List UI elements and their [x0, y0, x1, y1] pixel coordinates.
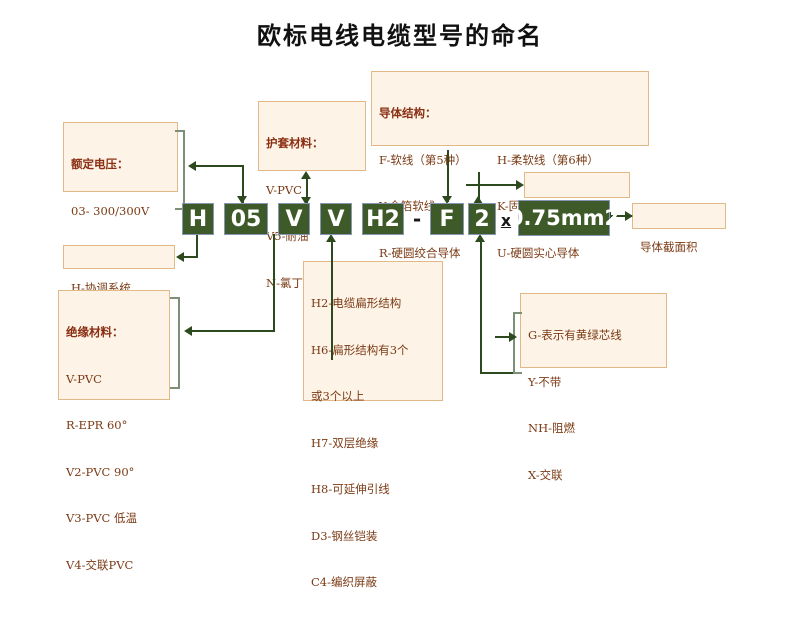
cross-section-connector-arrowhead-right: [625, 211, 633, 221]
special-codes-line-4: X-交联: [528, 468, 660, 484]
chip-insulation[interactable]: V: [278, 203, 310, 235]
construction-codes-line-6: D3-钢丝铠装: [311, 529, 436, 545]
voltage-connector-horizontal: [196, 165, 244, 167]
rated-voltage-box: 额定电压： 03- 300/300V 05- 300/500V 07- 450/…: [63, 122, 178, 192]
harmonisation-box: H-协调系统: [63, 245, 175, 269]
special-codes-connector-horizontal: [480, 372, 515, 374]
insulation-bracket-spine: [178, 297, 180, 389]
construction-connector-vertical: [331, 240, 333, 360]
core-count-connector-horizontal: [466, 184, 518, 186]
chip-conductor-label: F: [439, 207, 454, 232]
conductor-connector-vertical: [447, 150, 449, 202]
chip-sheath[interactable]: V: [320, 203, 352, 235]
chip-harmonisation-label: H: [189, 207, 207, 232]
conductor-structure-heading: 导体结构：: [379, 106, 642, 122]
special-codes-connector-arrowhead-up: [475, 234, 485, 242]
chip-voltage[interactable]: 05: [224, 203, 268, 235]
insulation-material-line-3: V2-PVC 90°: [66, 465, 163, 481]
special-codes-box: G-表示有黄绿芯线 Y-不带 NH-阻燃 X-交联: [520, 293, 667, 368]
chip-core-count[interactable]: 2: [468, 203, 496, 235]
insulation-connector-vertical: [273, 234, 275, 332]
core-count-label-box: 导体芯线数目: [524, 172, 630, 198]
sheath-material-heading: 护套材料：: [266, 136, 359, 152]
insulation-material-line-4: V3-PVC 低温: [66, 511, 163, 527]
chip-cross-section-label: 0.75mm2: [509, 206, 619, 230]
construction-codes-line-3: 或3个以上: [311, 389, 436, 405]
insulation-material-box: 绝缘材料： V-PVC R-EPR 60° V2-PVC 90° V3-PVC …: [58, 290, 170, 400]
conductor-structure-c2-line-1: H-柔软线（第6种）: [497, 153, 599, 169]
sheath-material-line-1: V-PVC: [266, 183, 359, 199]
insulation-material-line-5: V4-交联PVC: [66, 558, 163, 574]
construction-codes-line-2: H6-扁形结构有3个: [311, 343, 436, 359]
harmonisation-connector-arrowhead-left: [176, 252, 184, 262]
voltage-connector-arrowhead-left: [188, 161, 196, 171]
separator-dash: -: [408, 203, 426, 235]
chip-construction[interactable]: H2: [362, 203, 404, 235]
chip-core-count-label: 2: [474, 207, 489, 232]
diagram-canvas: 欧标电线电缆型号的命名 额定电压： 03- 300/300V 05- 300/5…: [0, 0, 800, 415]
special-codes-bracket-top: [513, 312, 522, 314]
rated-voltage-bracket-top: [175, 130, 185, 132]
conductor-structure-box: 导体结构： F-软线（第5种） H-柔软线（第6种） Y-金箔软线 K-固定绝缘…: [371, 71, 649, 146]
rated-voltage-bracket-spine: [183, 130, 185, 210]
special-codes-connector-vertical: [480, 240, 482, 374]
chip-harmonisation[interactable]: H: [182, 203, 214, 235]
construction-connector-arrowhead-up: [326, 234, 336, 242]
special-codes-line-1: G-表示有黄绿芯线: [528, 328, 660, 344]
insulation-material-heading: 绝缘材料：: [66, 325, 163, 341]
construction-codes-line-7: C4-编织屏蔽: [311, 575, 436, 591]
special-codes-line-2: Y-不带: [528, 375, 660, 391]
insulation-bracket-bottom: [170, 387, 180, 389]
insulation-material-line-1: V-PVC: [66, 372, 163, 388]
insulation-connector-horizontal: [192, 330, 275, 332]
core-count-connector-arrowhead-right: [516, 180, 524, 190]
chip-voltage-label: 05: [231, 207, 262, 232]
sheath-material-box: 护套材料： V-PVC V5-耐油 N-氯丁橡胶: [258, 101, 366, 171]
chip-cross-section[interactable]: 0.75mm2: [518, 200, 610, 236]
chip-construction-label: H2: [366, 207, 400, 232]
insulation-bracket-top: [170, 297, 180, 299]
conductor-structure-row-1: F-软线（第5种） H-柔软线（第6种）: [379, 153, 642, 169]
rated-voltage-line-1: 03- 300/300V: [71, 204, 171, 220]
chip-conductor[interactable]: F: [430, 203, 464, 235]
construction-codes-line-5: H8-可延伸引线: [311, 482, 436, 498]
conductor-structure-c1-line-1: F-软线（第5种）: [379, 153, 497, 169]
chip-insulation-label: V: [285, 207, 302, 232]
page-title: 欧标电线电缆型号的命名: [0, 16, 800, 51]
sheath-connector-arrowhead-up: [301, 171, 311, 179]
construction-codes-line-1: H2-电缆扁形结构: [311, 296, 436, 312]
insulation-connector-arrowhead-left: [184, 326, 192, 336]
special-codes-connector-arrowhead-right: [509, 332, 517, 342]
insulation-material-line-2: R-EPR 60°: [66, 418, 163, 434]
cross-section-label-text: 导体截面积: [640, 240, 719, 256]
special-codes-line-3: NH-阻燃: [528, 421, 660, 437]
construction-codes-box: H2-电缆扁形结构 H6-扁形结构有3个 或3个以上 H7-双层绝缘 H8-可延…: [303, 261, 443, 401]
separator-dash-label: -: [413, 207, 421, 231]
harmonisation-connector-horizontal: [184, 256, 198, 258]
harmonisation-connector-vertical: [196, 234, 198, 258]
construction-codes-line-4: H7-双层绝缘: [311, 436, 436, 452]
rated-voltage-heading: 额定电压：: [71, 157, 171, 173]
special-codes-bracket-spine: [513, 312, 515, 374]
chip-sheath-label: V: [327, 207, 344, 232]
special-codes-bracket-bottom: [513, 372, 522, 374]
cross-section-label-box: 导体截面积: [632, 203, 726, 229]
